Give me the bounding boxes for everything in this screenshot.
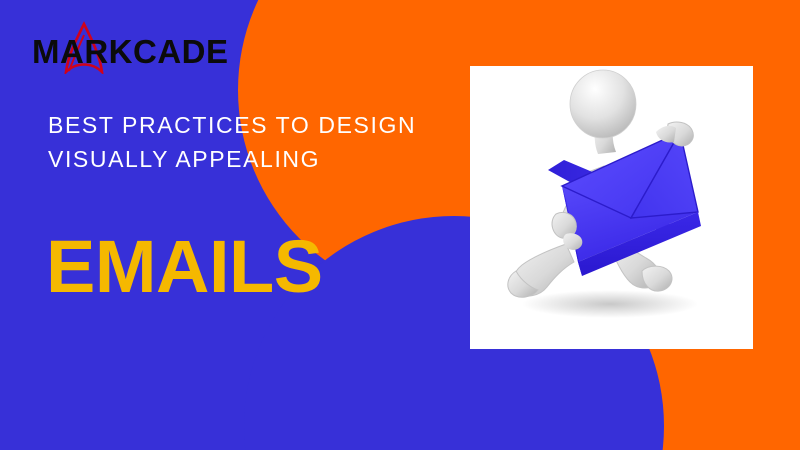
headline: BEST PRACTICES TO DESIGN VISUALLY APPEAL…	[48, 108, 418, 176]
logo-wordmark: MARKCADE	[32, 33, 229, 70]
person-carrying-envelope-icon	[470, 66, 753, 349]
markcade-logo[interactable]: MARKCADE	[22, 18, 252, 74]
email-best-practices-banner: MARKCADE BEST PRACTICES TO DESIGN VISUAL…	[0, 0, 800, 450]
illustration-card	[470, 66, 753, 349]
page-title: EMAILS	[46, 228, 323, 306]
